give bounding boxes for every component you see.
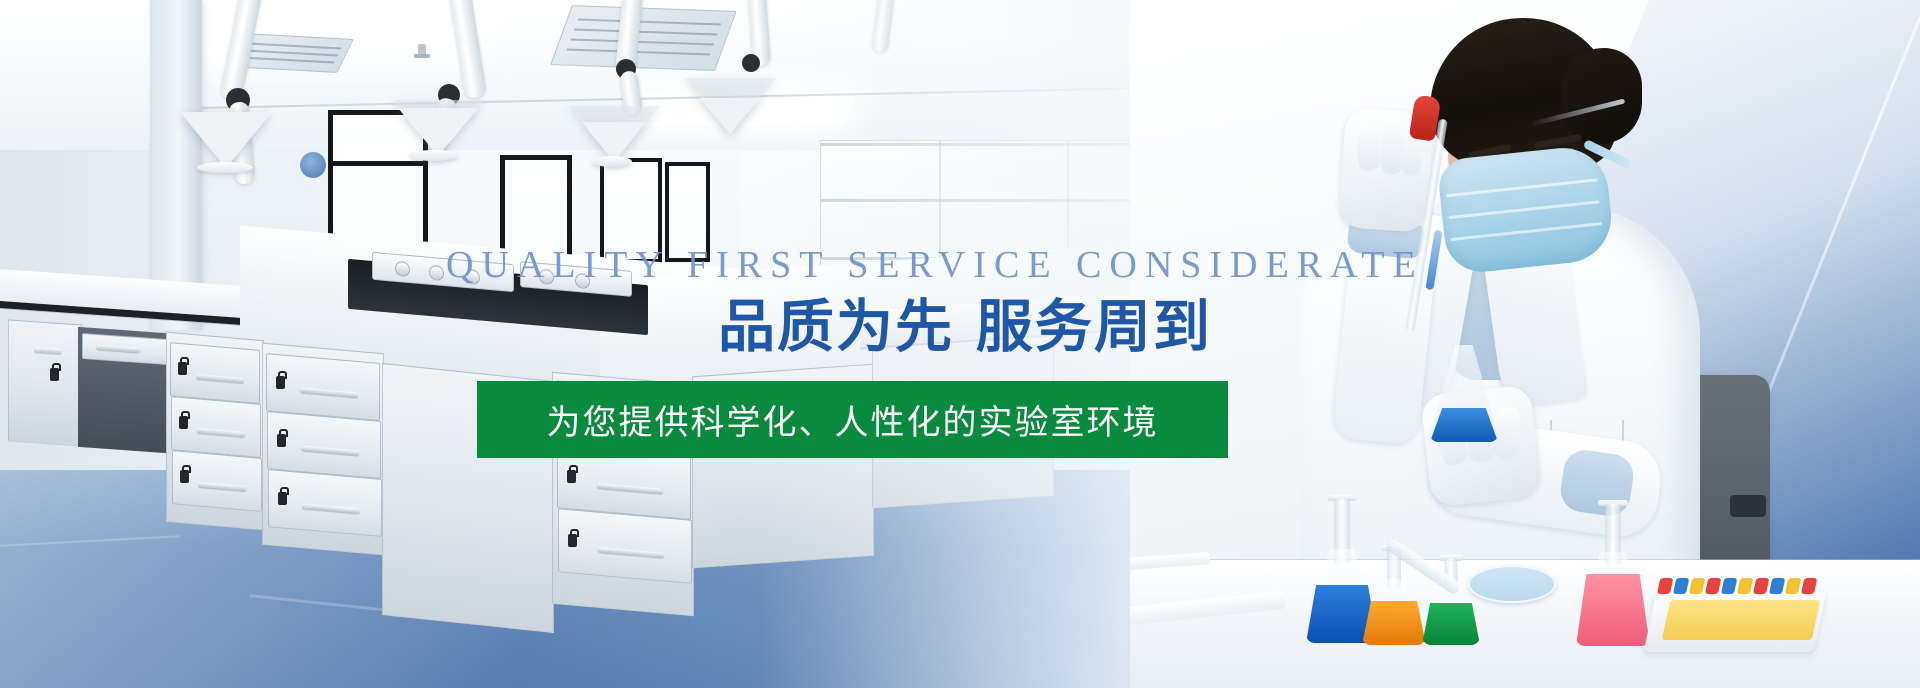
subtitle-green-bar: 为您提供科学化、人性化的实验室环境 bbox=[477, 381, 1228, 458]
subtitle-text: 为您提供科学化、人性化的实验室环境 bbox=[547, 395, 1159, 444]
headline-title: 品质为先 服务周到 bbox=[718, 296, 1212, 359]
text-overlay: QUALITY FIRST SERVICE CONSIDERATE 品质为先 服… bbox=[0, 0, 1920, 688]
hero-banner: QUALITY FIRST SERVICE CONSIDERATE 品质为先 服… bbox=[0, 0, 1920, 688]
eyebrow-tagline: QUALITY FIRST SERVICE CONSIDERATE bbox=[446, 246, 1424, 284]
